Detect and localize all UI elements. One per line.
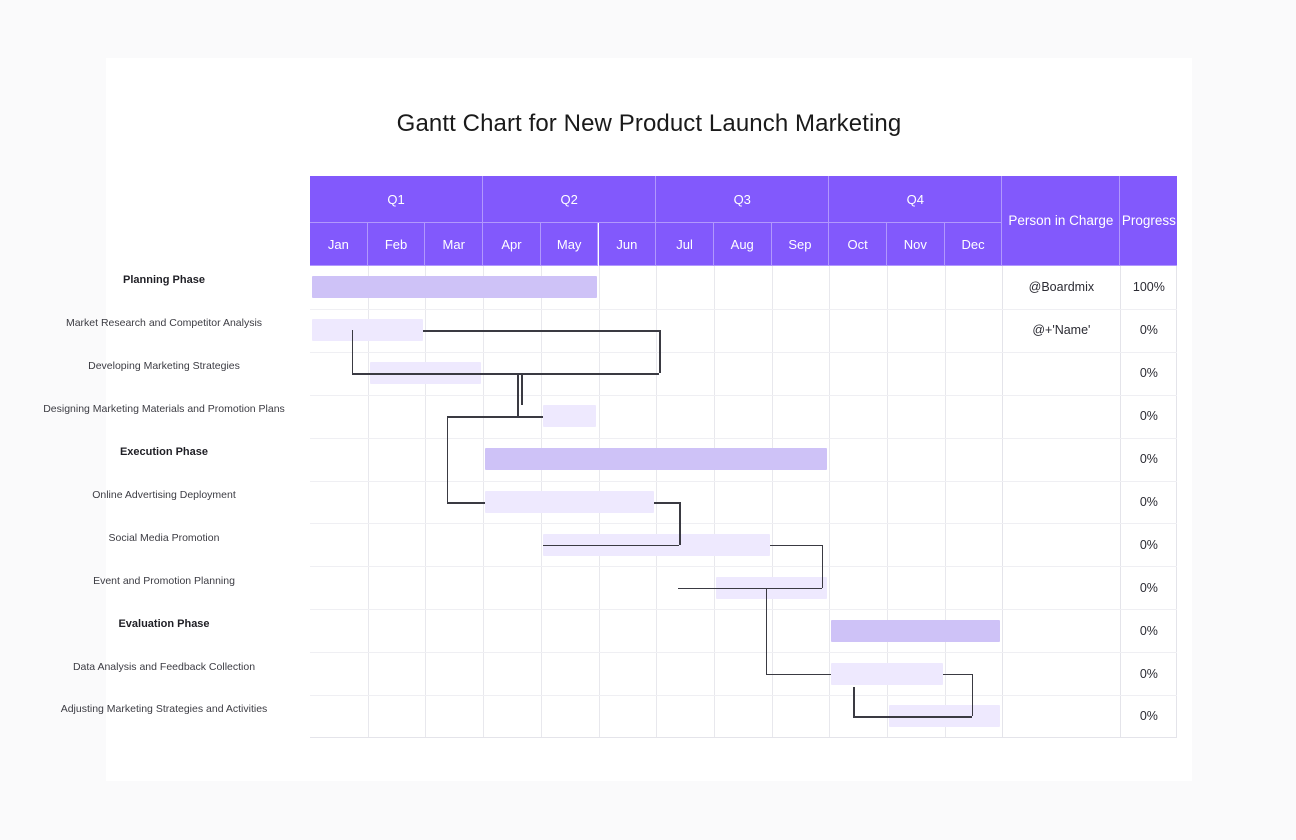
progress-cell[interactable]: 100% bbox=[1120, 266, 1177, 309]
page-title: Gantt Chart for New Product Launch Marke… bbox=[106, 110, 1192, 138]
row-label[interactable]: Social Media Promotion bbox=[24, 532, 304, 544]
person-in-charge-header: Person in Charge bbox=[1002, 176, 1120, 266]
progress-cell[interactable]: 0% bbox=[1120, 523, 1177, 566]
progress-header: Progress bbox=[1120, 176, 1177, 266]
progress-cell[interactable]: 0% bbox=[1120, 395, 1177, 438]
month-header-jan: Jan bbox=[310, 223, 368, 266]
dependency-link-segment bbox=[770, 545, 822, 547]
month-header-aug: Aug bbox=[714, 223, 772, 266]
person-in-charge-cell[interactable] bbox=[1002, 352, 1120, 395]
grid-vline bbox=[425, 266, 426, 738]
grid-vline bbox=[714, 266, 715, 738]
person-in-charge-cell[interactable] bbox=[1002, 438, 1120, 481]
gantt-bar[interactable] bbox=[831, 663, 942, 685]
month-header-jun: Jun bbox=[599, 223, 657, 266]
dependency-link-segment bbox=[679, 502, 681, 545]
dependency-link-segment bbox=[972, 674, 974, 717]
grid-vline bbox=[945, 266, 946, 738]
dependency-link-segment bbox=[766, 588, 768, 674]
progress-cell[interactable]: 0% bbox=[1120, 652, 1177, 695]
person-in-charge-cell[interactable] bbox=[1002, 652, 1120, 695]
person-in-charge-cell[interactable]: @+'Name' bbox=[1002, 309, 1120, 352]
progress-cell[interactable]: 0% bbox=[1120, 695, 1177, 738]
grid-vline bbox=[772, 266, 773, 738]
dependency-link-segment bbox=[659, 330, 661, 373]
dependency-link-segment bbox=[521, 373, 523, 405]
progress-cell[interactable]: 0% bbox=[1120, 609, 1177, 652]
month-header-dec: Dec bbox=[945, 223, 1003, 266]
dependency-link-segment bbox=[447, 416, 449, 502]
dependency-link-segment bbox=[481, 373, 521, 375]
gantt-bar[interactable] bbox=[485, 491, 654, 513]
month-header-may: May bbox=[541, 223, 599, 266]
person-in-charge-cell[interactable] bbox=[1002, 481, 1120, 524]
person-in-charge-cell[interactable]: @Boardmix bbox=[1002, 266, 1120, 309]
dependency-link-segment bbox=[889, 716, 972, 718]
row-label[interactable]: Adjusting Marketing Strategies and Activ… bbox=[24, 703, 304, 715]
row-label[interactable]: Planning Phase bbox=[24, 274, 304, 286]
gantt-grid-body: @Boardmix100%@+'Name'0%0%0%0%0%0%0%0%0%0… bbox=[310, 266, 1177, 738]
person-in-charge-cell[interactable] bbox=[1002, 695, 1120, 738]
dependency-link-segment bbox=[943, 674, 972, 676]
gantt-bar[interactable] bbox=[312, 276, 597, 298]
quarter-header-q2: Q2 bbox=[483, 176, 656, 223]
row-label[interactable]: Online Advertising Deployment bbox=[24, 489, 304, 501]
person-in-charge-cell[interactable] bbox=[1002, 523, 1120, 566]
progress-cell[interactable]: 0% bbox=[1120, 481, 1177, 524]
dependency-link-segment bbox=[766, 674, 831, 676]
row-label[interactable]: Developing Marketing Strategies bbox=[24, 360, 304, 372]
month-header-mar: Mar bbox=[425, 223, 483, 266]
dependency-link-segment bbox=[784, 588, 822, 590]
month-header-sep: Sep bbox=[772, 223, 830, 266]
dependency-link-segment bbox=[447, 502, 485, 504]
person-in-charge-cell[interactable] bbox=[1002, 566, 1120, 609]
row-label[interactable]: Market Research and Competitor Analysis bbox=[24, 317, 304, 329]
dependency-link-segment bbox=[678, 588, 716, 590]
gantt-bar[interactable] bbox=[485, 448, 827, 470]
person-in-charge-cell[interactable] bbox=[1002, 395, 1120, 438]
progress-cell[interactable]: 0% bbox=[1120, 566, 1177, 609]
row-label[interactable]: Execution Phase bbox=[24, 446, 304, 458]
row-label[interactable]: Evaluation Phase bbox=[24, 618, 304, 630]
gantt-bar[interactable] bbox=[543, 405, 597, 427]
row-label[interactable]: Designing Marketing Materials and Promot… bbox=[24, 403, 304, 415]
progress-cell[interactable]: 0% bbox=[1120, 438, 1177, 481]
month-header-nov: Nov bbox=[887, 223, 945, 266]
quarter-header-q4: Q4 bbox=[829, 176, 1002, 223]
row-label[interactable]: Event and Promotion Planning bbox=[24, 575, 304, 587]
dependency-link-segment bbox=[423, 330, 659, 332]
gantt-bar[interactable] bbox=[312, 319, 423, 341]
month-header-apr: Apr bbox=[483, 223, 541, 266]
dependency-link-segment bbox=[853, 687, 855, 717]
table-bottom-border bbox=[310, 737, 1177, 738]
gantt-bar[interactable] bbox=[831, 620, 1000, 642]
quarter-header-q3: Q3 bbox=[656, 176, 829, 223]
dependency-link-segment bbox=[654, 502, 679, 504]
row-label[interactable]: Data Analysis and Feedback Collection bbox=[24, 661, 304, 673]
dependency-link-segment bbox=[853, 716, 889, 718]
progress-cell[interactable]: 0% bbox=[1120, 309, 1177, 352]
month-header-feb: Feb bbox=[368, 223, 426, 266]
chart-card: Gantt Chart for New Product Launch Marke… bbox=[106, 58, 1192, 781]
dependency-link-segment bbox=[543, 545, 679, 547]
quarter-header-q1: Q1 bbox=[310, 176, 483, 223]
person-in-charge-cell[interactable] bbox=[1002, 609, 1120, 652]
grid-vline bbox=[829, 266, 830, 738]
month-header-jul: Jul bbox=[656, 223, 714, 266]
dependency-link-segment bbox=[352, 330, 354, 373]
progress-cell[interactable]: 0% bbox=[1120, 352, 1177, 395]
dependency-link-segment bbox=[517, 373, 519, 416]
dependency-link-segment bbox=[822, 545, 824, 588]
month-header-oct: Oct bbox=[829, 223, 887, 266]
gantt-table: Q1Q2Q3Q4JanFebMarAprMayJunJulAugSepOctNo… bbox=[310, 176, 1177, 738]
dependency-link-segment bbox=[352, 373, 370, 375]
dependency-link-segment bbox=[447, 416, 543, 418]
